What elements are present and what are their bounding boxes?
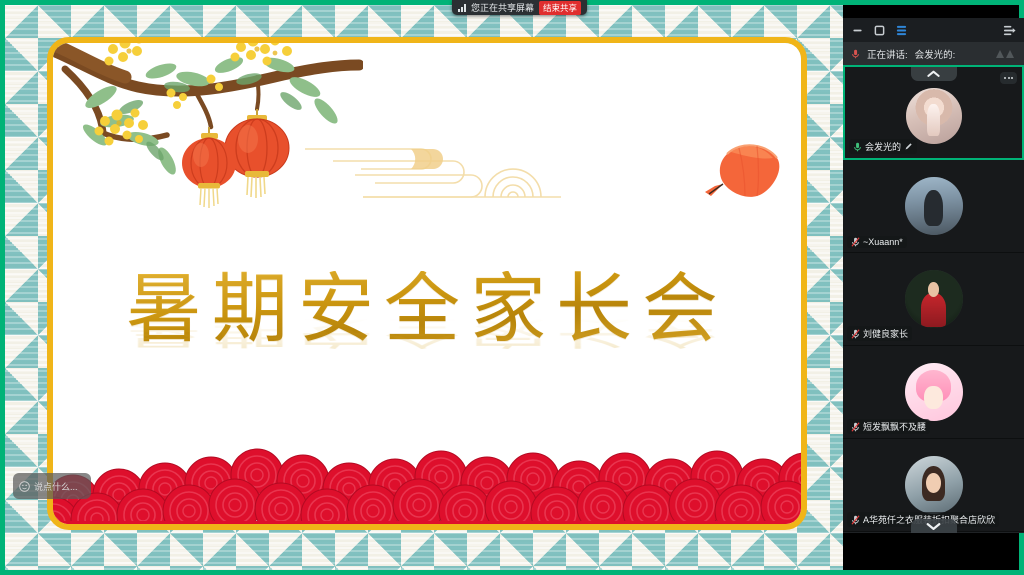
speaking-prefix: 正在讲话:: [867, 47, 908, 61]
panel-header: [843, 18, 1024, 42]
tile-more-button[interactable]: [1000, 72, 1017, 84]
collapse-panel-up-button[interactable]: [911, 67, 957, 81]
mic-muted-icon: [851, 422, 860, 432]
pencil-icon[interactable]: [904, 142, 913, 151]
participant-namebar: 短发飘飘不及腰: [847, 419, 930, 434]
slide-title-reflection: 暑期安全家长会: [126, 315, 728, 349]
chevron-up-icon: [927, 70, 940, 78]
participant-tiles[interactable]: 会发光的 ~Xuaann*: [843, 65, 1024, 533]
chat-input[interactable]: 说点什么...: [13, 473, 91, 499]
signal-bars-icon: [458, 4, 466, 12]
participant-name: ~Xuaann*: [863, 237, 903, 247]
participant-tile[interactable]: 刘健良家长: [843, 253, 1024, 346]
list-view-icon[interactable]: [895, 24, 908, 37]
emoji-icon[interactable]: [19, 481, 30, 492]
red-scallop-wave-icon: [53, 429, 801, 524]
avatar: [905, 270, 963, 328]
avatar: [905, 177, 963, 235]
participant-tile[interactable]: 短发飘飘不及腰: [843, 346, 1024, 439]
participant-namebar: 会发光的: [849, 139, 917, 154]
branch-blossom-lantern-icon: [53, 43, 363, 220]
participant-namebar: 刘健良家长: [847, 326, 912, 341]
mic-muted-icon: [851, 515, 860, 525]
participant-panel: 正在讲话: 会发光的:: [843, 18, 1024, 533]
slide-title-block: 暑期安全家长会 暑期安全家长会: [53, 271, 801, 425]
maximize-icon[interactable]: [873, 24, 886, 37]
panel-layout-icon[interactable]: [1003, 24, 1016, 37]
speaking-name: 会发光的:: [915, 47, 956, 61]
participant-name: 短发飘飘不及腰: [863, 420, 926, 433]
collapse-panel-down-button[interactable]: [911, 519, 957, 533]
mic-muted-icon: [851, 237, 860, 247]
speaking-waveform-icon: [994, 48, 1016, 60]
share-status-text: 您正在共享屏幕: [471, 1, 534, 14]
stop-share-button[interactable]: 结束共享: [539, 1, 581, 15]
participant-name: 会发光的: [865, 140, 901, 153]
participant-name: 刘健良家长: [863, 327, 908, 340]
chevron-down-icon: [926, 522, 941, 531]
slide-white-card: 暑期安全家长会 暑期安全家长会: [53, 43, 801, 524]
shared-slide: 暑期安全家长会 暑期安全家长会: [5, 5, 843, 570]
chat-input-placeholder: 说点什么...: [34, 480, 78, 493]
avatar: [905, 363, 963, 421]
active-speaker-bar: 正在讲话: 会发光的:: [843, 42, 1024, 66]
sky-lantern-icon: [701, 138, 791, 218]
mic-icon: [853, 142, 862, 152]
mic-muted-icon: [851, 329, 860, 339]
avatar: [905, 456, 963, 514]
participant-tile-active[interactable]: 会发光的: [843, 65, 1024, 160]
mic-active-icon: [851, 49, 860, 59]
participant-tile[interactable]: ~Xuaann*: [843, 160, 1024, 253]
participant-namebar: ~Xuaann*: [847, 236, 907, 248]
screen-share-stage: 暑期安全家长会 暑期安全家长会: [0, 0, 1024, 575]
minimize-icon[interactable]: [851, 24, 864, 37]
screen-share-toolbar[interactable]: 您正在共享屏幕 结束共享: [452, 0, 587, 15]
avatar: [906, 88, 962, 144]
